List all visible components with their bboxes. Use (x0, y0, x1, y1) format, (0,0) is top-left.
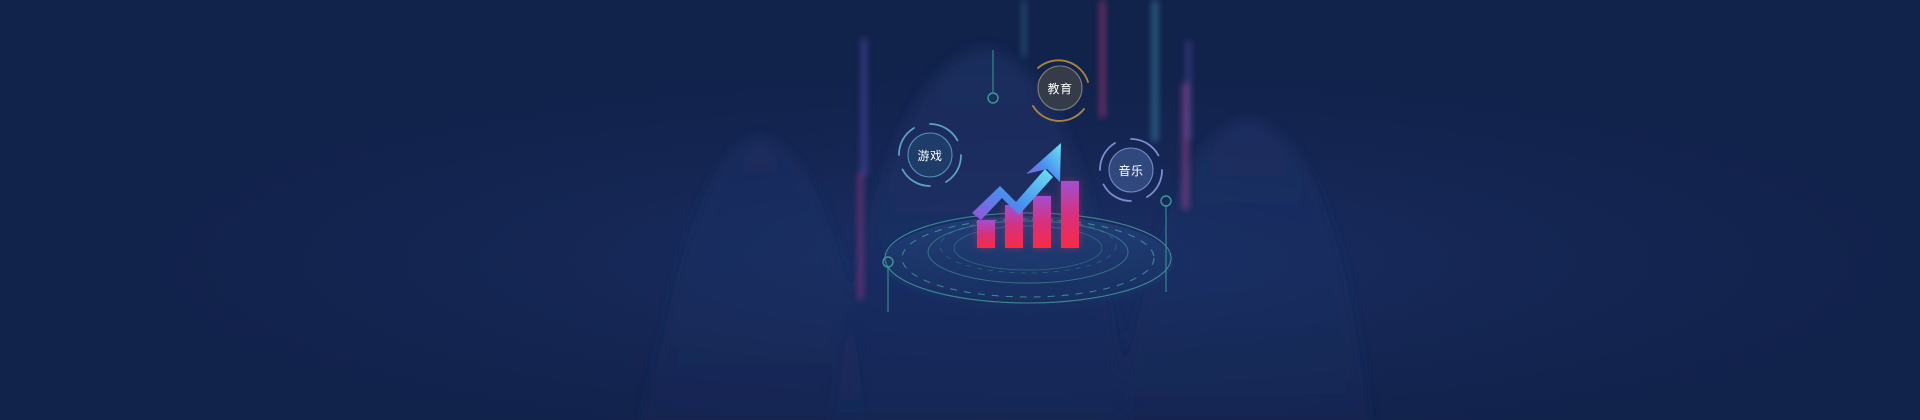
badge-game[interactable]: 游戏 (899, 124, 961, 186)
badge-music-label: 音乐 (1118, 163, 1143, 178)
bar-1 (977, 220, 995, 248)
badge-game-label: 游戏 (917, 149, 942, 163)
platform-disc (883, 216, 1173, 308)
bar-4 (1061, 181, 1079, 248)
bar-3 (1033, 196, 1051, 248)
badge-education-label: 教育 (1047, 81, 1072, 96)
beam-cyan-2 (1152, 0, 1158, 142)
platform (868, 212, 1188, 316)
badge-music[interactable]: 音乐 (1100, 139, 1162, 201)
illustration-scene: 游戏 教育 音乐 (0, 0, 1920, 420)
beam-purple-1 (861, 38, 867, 176)
banner-canvas: 游戏 教育 音乐 (0, 0, 1920, 420)
beam-violet-1 (1186, 40, 1191, 140)
beam-pink-2 (1100, 0, 1105, 118)
beam-cyan-1 (1022, 0, 1026, 58)
beam-pink-1 (858, 172, 863, 300)
